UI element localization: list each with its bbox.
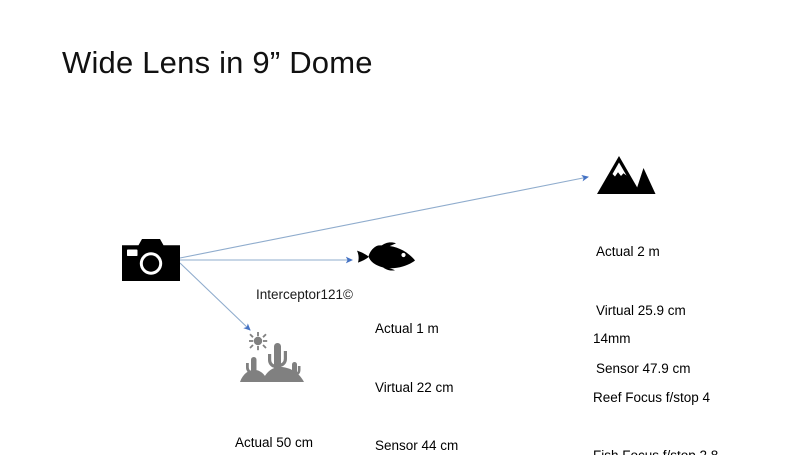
fish-icon [355,242,417,277]
reef-focus: Reef Focus f/stop 4 [593,388,718,408]
mountain-icon [597,156,657,201]
lens-settings: 14mm Reef Focus f/stop 4 Fish Focus f/st… [593,290,718,455]
desert-cactus-icon [240,332,306,389]
arrow-to-desert [180,263,250,330]
camera-icon [122,236,180,287]
slide-canvas: Wide Lens in 9” Dome [0,0,810,455]
fish-sensor: Sensor 44 cm [375,436,458,455]
fish-actual: Actual 1 m [375,319,458,339]
fish-virtual: Virtual 22 cm [375,378,458,398]
mountain-actual: Actual 2 m [596,242,691,262]
fish-focus: Fish Focus f/stop 2.8 [593,446,718,455]
fish-measurements: Actual 1 m Virtual 22 cm Sensor 44 cm [375,280,458,455]
focal-length: 14mm [593,329,718,349]
desert-actual: Actual 50 cm [235,433,325,453]
desert-measurements: Actual 50 cm Virtual 17.9 cm Sensor 38 c… [235,394,325,455]
watermark: Interceptor121© [256,287,353,302]
